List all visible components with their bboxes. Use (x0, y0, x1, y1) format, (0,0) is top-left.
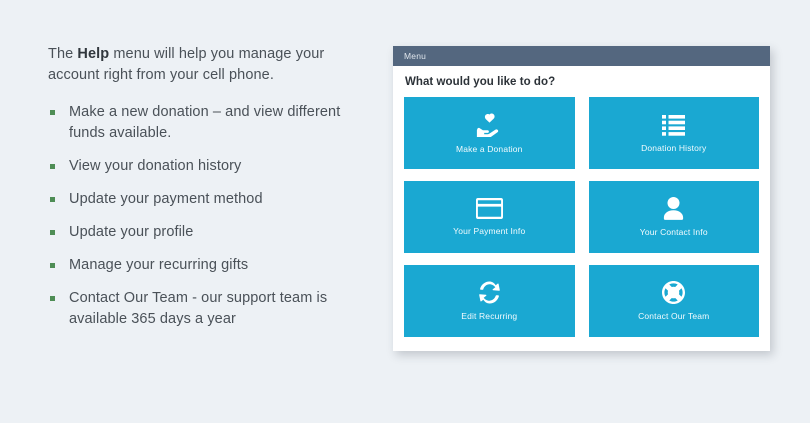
list-item: Update your payment method (48, 189, 368, 210)
list-item: Make a new donation – and view different… (48, 102, 368, 144)
app-titlebar-label: Menu (404, 51, 426, 61)
slide-canvas: The Help menu will help you manage your … (0, 0, 810, 423)
tile-donation-history[interactable]: Donation History (589, 97, 760, 169)
intro-text-before: The (48, 46, 77, 62)
list-item-label: View your donation history (69, 158, 241, 174)
tile-contact-our-team[interactable]: Contact Our Team (589, 265, 760, 337)
tile-label: Donation History (641, 143, 706, 153)
list-icon (662, 114, 685, 136)
feature-bullet-list: Make a new donation – and view different… (48, 102, 368, 330)
list-item-label: Update your payment method (69, 191, 263, 207)
list-item-label: Make a new donation – and view different… (69, 104, 340, 141)
bullet-dot-icon (50, 197, 55, 202)
menu-tile-grid: Make a Donation (404, 97, 759, 337)
list-item: View your donation history (48, 156, 368, 177)
sync-icon (478, 281, 501, 304)
user-icon (663, 197, 684, 220)
list-item-label: Contact Our Team - our support team is a… (69, 290, 327, 327)
tile-label: Contact Our Team (638, 311, 709, 321)
list-item: Update your profile (48, 222, 368, 243)
copy-column: The Help menu will help you manage your … (48, 44, 368, 330)
bullet-dot-icon (50, 110, 55, 115)
page-title: What would you like to do? (405, 76, 759, 88)
tile-label: Your Payment Info (453, 226, 525, 236)
lifebuoy-icon (662, 281, 685, 304)
credit-card-icon (476, 198, 503, 219)
app-titlebar: Menu (393, 46, 770, 66)
app-body: What would you like to do? Make a Donati… (393, 66, 770, 348)
intro-emphasis-help: Help (77, 46, 109, 62)
tile-label: Edit Recurring (461, 311, 517, 321)
tile-make-a-donation[interactable]: Make a Donation (404, 97, 575, 169)
tile-your-contact-info[interactable]: Your Contact Info (589, 181, 760, 253)
tile-label: Make a Donation (456, 144, 523, 154)
list-item: Contact Our Team - our support team is a… (48, 288, 368, 330)
bullet-dot-icon (50, 263, 55, 268)
list-item: Manage your recurring gifts (48, 255, 368, 276)
bullet-dot-icon (50, 230, 55, 235)
tile-your-payment-info[interactable]: Your Payment Info (404, 181, 575, 253)
list-item-label: Update your profile (69, 224, 193, 240)
bullet-dot-icon (50, 164, 55, 169)
intro-paragraph: The Help menu will help you manage your … (48, 44, 368, 86)
tile-label: Your Contact Info (640, 227, 708, 237)
tile-edit-recurring[interactable]: Edit Recurring (404, 265, 575, 337)
app-mockup: Menu What would you like to do? Make a D… (393, 46, 770, 351)
hand-holding-heart-icon (476, 113, 503, 137)
list-item-label: Manage your recurring gifts (69, 257, 248, 273)
bullet-dot-icon (50, 296, 55, 301)
